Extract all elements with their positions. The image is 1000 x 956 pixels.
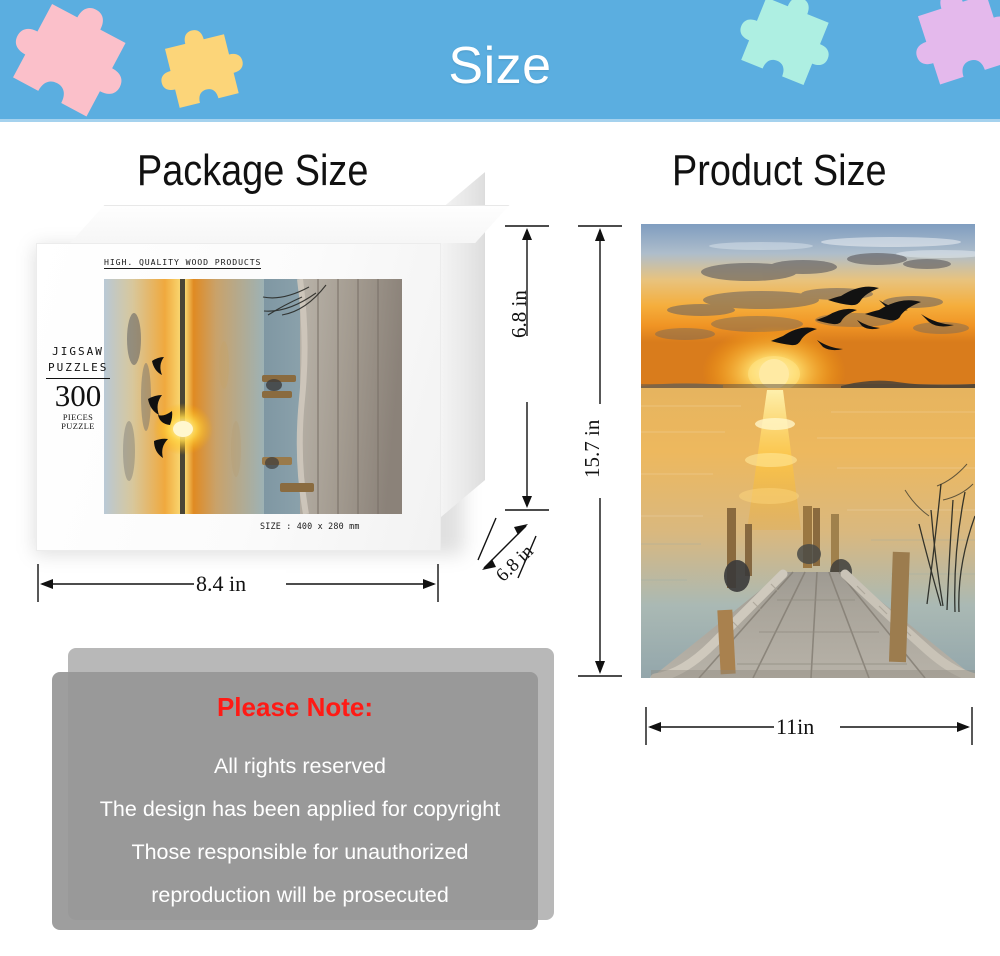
note-line-3: Those responsible for unauthorized xyxy=(0,831,600,874)
product-height-label: 15.7 in xyxy=(580,420,605,478)
note-title: Please Note: xyxy=(52,692,538,723)
package-size-heading: Package Size xyxy=(137,146,368,196)
box-brand-line: HIGH. QUALITY WOOD PRODUCTS xyxy=(104,257,261,269)
size-infographic: Size Package Size Product Size HIGH. QUA… xyxy=(0,0,1000,956)
note-line-2: The design has been applied for copyrigh… xyxy=(0,788,600,831)
page-title: Size xyxy=(0,36,1000,96)
box-top-panel xyxy=(70,205,509,243)
spine-jigsaw-text: JIGSAW xyxy=(46,345,110,358)
box-size-line: SIZE : 400 x 280 mm xyxy=(260,521,360,531)
note-line-4: reproduction will be prosecuted xyxy=(0,874,600,917)
note-line-1: All rights reserved xyxy=(0,745,600,788)
product-width-label: 11in xyxy=(776,714,814,740)
package-box: HIGH. QUALITY WOOD PRODUCTS xyxy=(24,205,494,565)
header-banner: Size xyxy=(0,0,1000,122)
box-cover-artwork xyxy=(104,279,402,514)
banner-divider xyxy=(0,119,1000,122)
package-width-label: 8.4 in xyxy=(196,571,246,597)
box-spine-label: JIGSAW PUZZLES 300 PIECES PUZZLE xyxy=(46,345,110,431)
spine-pieces-puzzle-text: PIECES PUZZLE xyxy=(46,413,110,431)
package-height-label: 6.8 in xyxy=(507,290,532,338)
sunset-dock-photo xyxy=(641,224,975,678)
product-image xyxy=(641,224,975,678)
note-body: All rights reserved The design has been … xyxy=(0,745,600,917)
product-size-heading: Product Size xyxy=(672,146,887,196)
spine-puzzles-text: PUZZLES xyxy=(46,359,110,379)
spine-piece-count: 300 xyxy=(46,379,110,413)
